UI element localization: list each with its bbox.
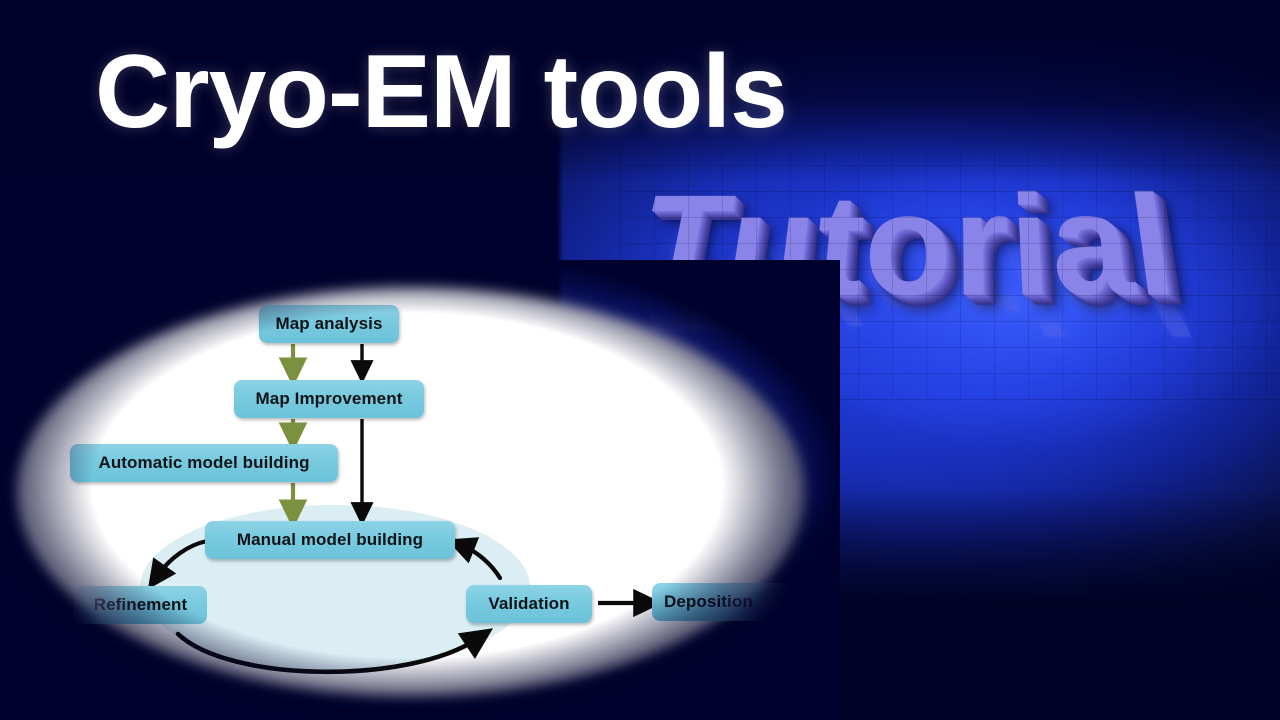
node-map-analysis[interactable]: Map analysis: [259, 305, 399, 343]
node-manual-model-building[interactable]: Manual model building: [205, 521, 455, 559]
arrow-manual-model-to-refinement: [158, 541, 207, 575]
cryoem-workflow-diagram: Map analysis Map Improvement Automatic m…: [0, 0, 1280, 720]
node-refinement[interactable]: Refinement: [74, 586, 207, 624]
arrow-refinement-to-validation: [178, 634, 477, 672]
node-automatic-model-building[interactable]: Automatic model building: [70, 444, 338, 482]
node-map-improvement[interactable]: Map Improvement: [234, 380, 424, 418]
arrow-validation-to-manual-model: [463, 546, 500, 578]
node-validation[interactable]: Validation: [466, 585, 592, 623]
slide-canvas: Tutorial Tutorial Cryo-EM tools: [0, 0, 1280, 720]
node-deposition[interactable]: Deposition: [652, 583, 792, 621]
